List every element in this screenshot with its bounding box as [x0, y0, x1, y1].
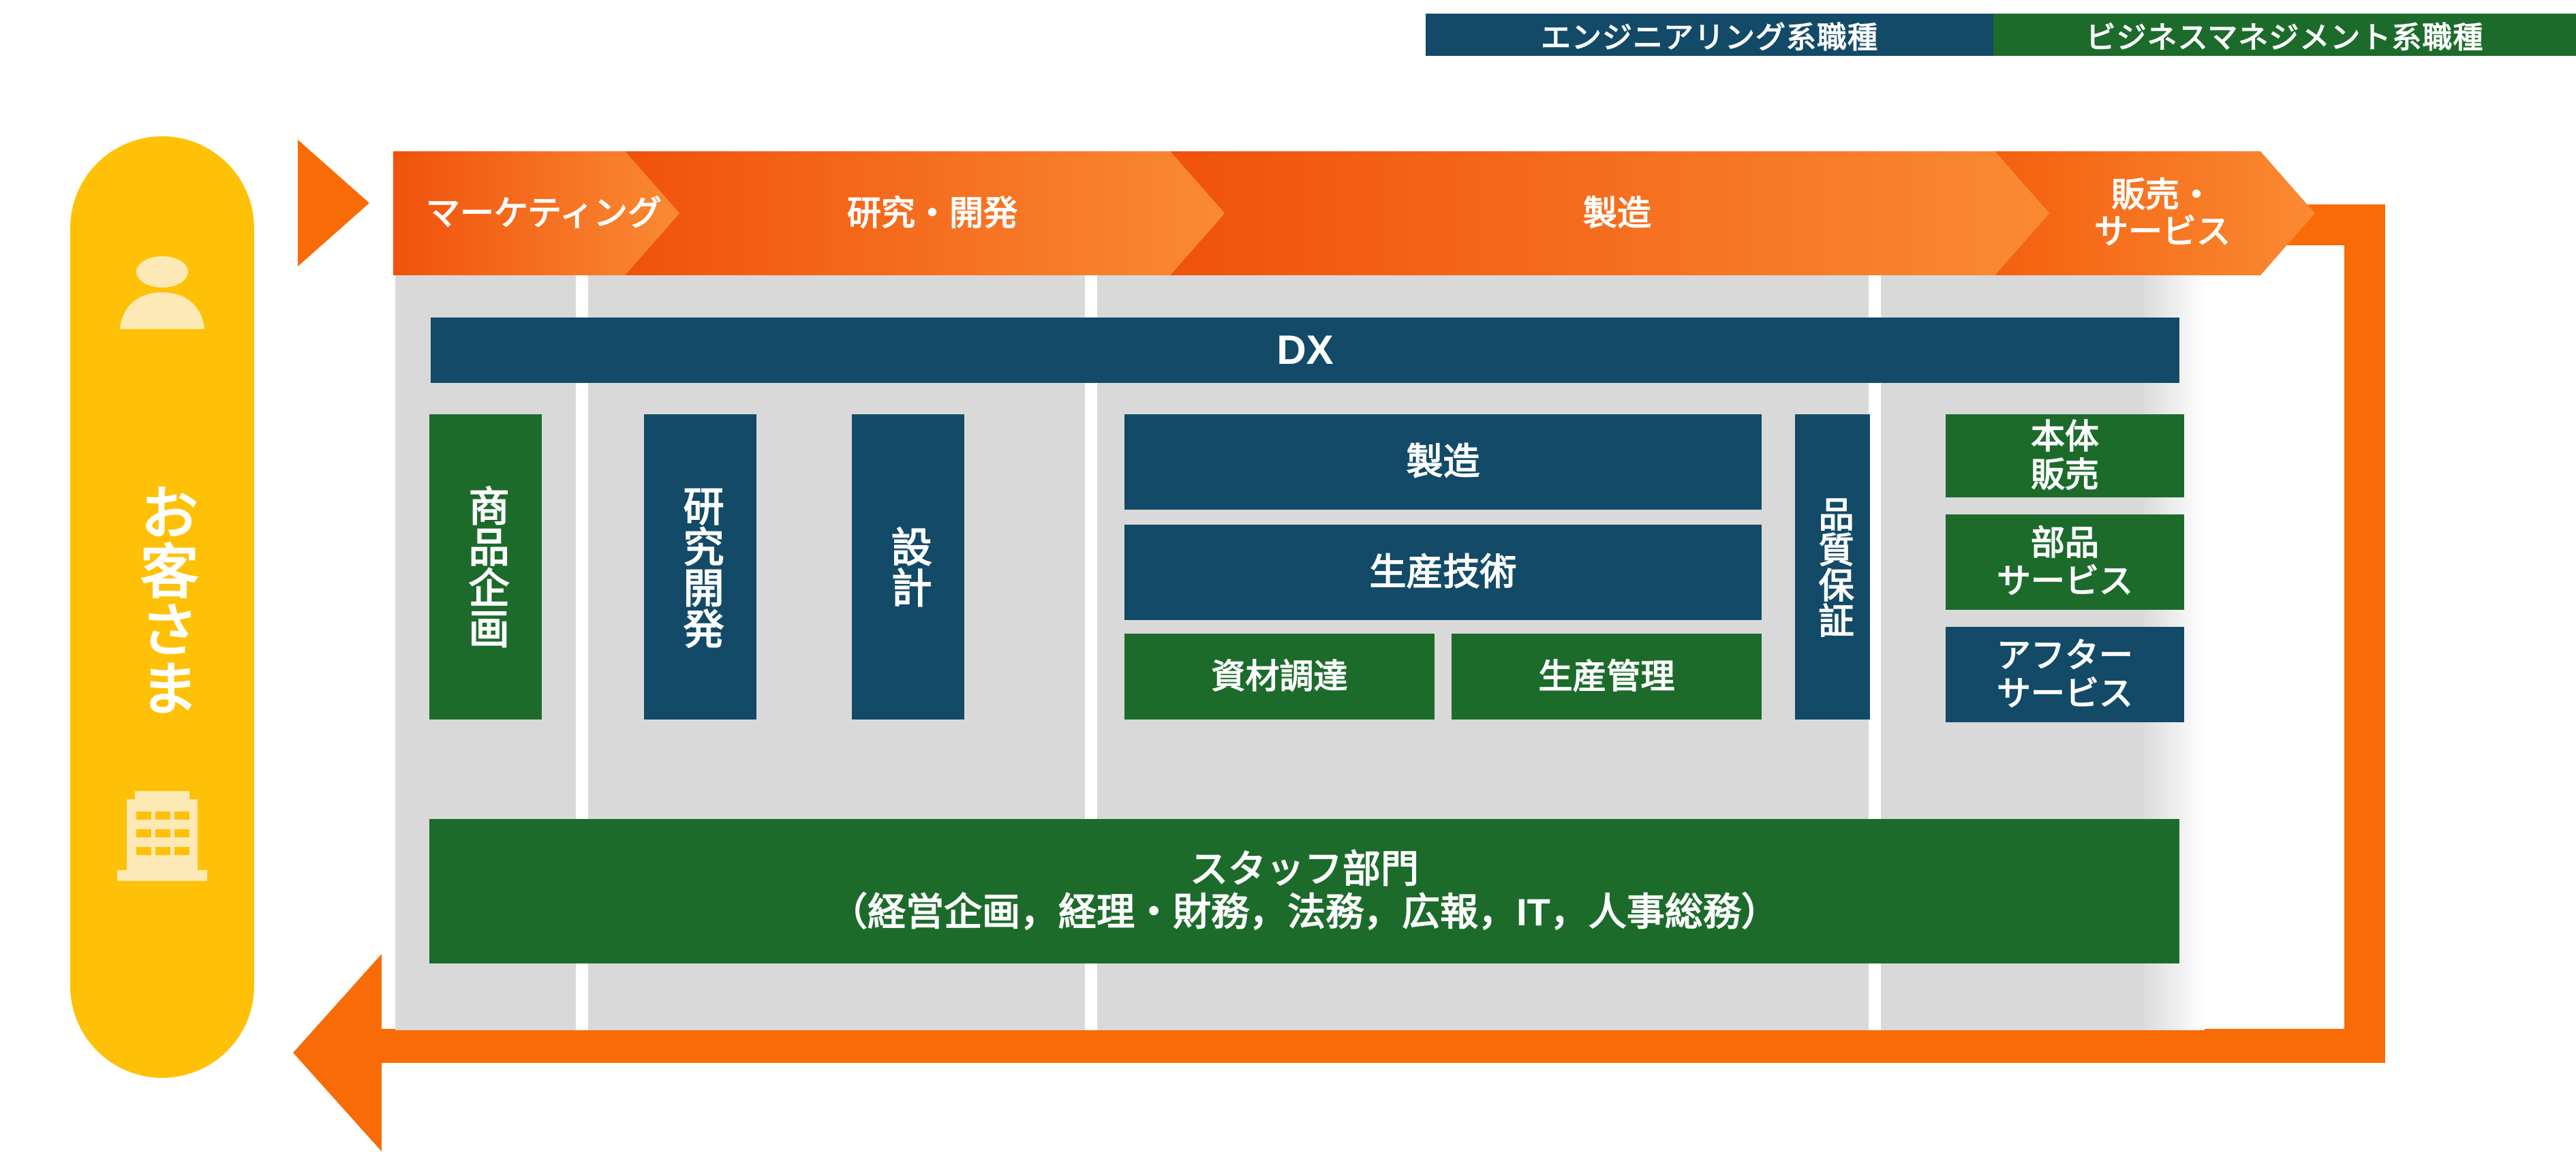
dept-product-planning[interactable]: 商品企画	[429, 414, 542, 720]
dx-bar[interactable]: DX	[431, 318, 2179, 383]
dept-material-procurement[interactable]: 資材調達	[1124, 634, 1435, 720]
dept-unit-sales[interactable]: 本体 販売	[1946, 414, 2184, 497]
dept-research-development[interactable]: 研究開発	[644, 414, 756, 720]
process-diagram: エンジニアリング系職種 ビジネスマネジメント系職種 お客さま マーケティング 研…	[0, 0, 2576, 1159]
chevron-label: マーケティング	[393, 195, 679, 232]
chevron-rd[interactable]: 研究・開発	[625, 151, 1225, 275]
chevron-marketing[interactable]: マーケティング	[393, 151, 679, 275]
start-arrow-icon	[298, 140, 369, 266]
dept-parts-service[interactable]: 部品 サービス	[1946, 514, 2184, 610]
dept-quality-assurance[interactable]: 品質保証	[1795, 414, 1870, 720]
dept-production-management[interactable]: 生産管理	[1452, 634, 1762, 720]
dept-production-engineering[interactable]: 生産技術	[1124, 525, 1762, 620]
staff-title: スタッフ部門	[1190, 848, 1419, 891]
staff-detail: （経営企画，経理・財務，法務，広報，IT，人事総務）	[829, 891, 1779, 934]
chevron-label: 研究・開発	[625, 195, 1225, 232]
chevron-manufacturing[interactable]: 製造	[1170, 151, 2049, 275]
person-icon	[116, 256, 209, 330]
dept-manufacturing[interactable]: 製造	[1124, 414, 1762, 510]
process-chevron-bar: マーケティング 研究・開発 製造 販売・ サービス	[393, 151, 2199, 275]
building-icon	[114, 787, 210, 882]
staff-department-bar[interactable]: スタッフ部門 （経営企画，経理・財務，法務，広報，IT，人事総務）	[429, 819, 2179, 963]
dept-after-service[interactable]: アフター サービス	[1946, 627, 2184, 722]
dept-design[interactable]: 設計	[852, 414, 964, 720]
customer-label: お客さま	[106, 409, 221, 790]
chevron-label: 製造	[1170, 195, 2049, 232]
